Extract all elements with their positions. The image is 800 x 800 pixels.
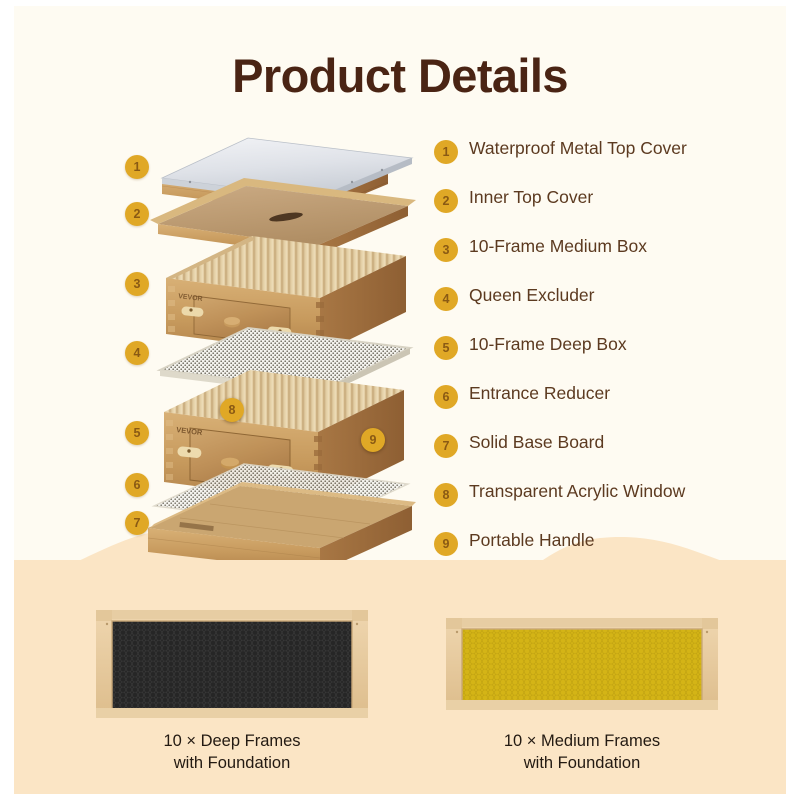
legend-badge-9: 9: [434, 532, 458, 556]
legend-label-4: Queen Excluder: [469, 285, 595, 306]
white-margin-bottom: [0, 794, 800, 800]
callout-badge-2[interactable]: 2: [125, 202, 149, 226]
legend-item-3[interactable]: 3 10-Frame Medium Box: [434, 236, 764, 285]
legend-badge-6: 6: [434, 385, 458, 409]
callout-badge-1[interactable]: 1: [125, 155, 149, 179]
legend-badge-1: 1: [434, 140, 458, 164]
callout-badge-9[interactable]: 9: [361, 428, 385, 452]
medium-frame-image: [446, 612, 718, 716]
legend-label-5: 10-Frame Deep Box: [469, 334, 627, 355]
legend-badge-3: 3: [434, 238, 458, 262]
deep-frame-caption-line2: with Foundation: [82, 752, 382, 774]
medium-frame-caption-line1: 10 × Medium Frames: [432, 730, 732, 752]
legend-item-4[interactable]: 4 Queen Excluder: [434, 285, 764, 334]
callout-badge-6[interactable]: 6: [125, 473, 149, 497]
legend-label-1: Waterproof Metal Top Cover: [469, 138, 687, 159]
legend-label-8: Transparent Acrylic Window: [469, 481, 685, 502]
product-details-infographic: VEVOR: [0, 0, 800, 800]
legend-label-3: 10-Frame Medium Box: [469, 236, 647, 257]
legend-list: 1 Waterproof Metal Top Cover 2 Inner Top…: [434, 138, 764, 579]
legend-badge-2: 2: [434, 189, 458, 213]
medium-frame-caption: 10 × Medium Frames with Foundation: [432, 730, 732, 775]
legend-label-6: Entrance Reducer: [469, 383, 610, 404]
legend-item-8[interactable]: 8 Transparent Acrylic Window: [434, 481, 764, 530]
medium-frame-caption-line2: with Foundation: [432, 752, 732, 774]
deep-frame-image: [96, 604, 368, 724]
callout-badge-4[interactable]: 4: [125, 341, 149, 365]
legend-label-2: Inner Top Cover: [469, 187, 593, 208]
white-margin-left: [0, 0, 14, 800]
callout-badge-3[interactable]: 3: [125, 272, 149, 296]
legend-item-2[interactable]: 2 Inner Top Cover: [434, 187, 764, 236]
legend-item-9[interactable]: 9 Portable Handle: [434, 530, 764, 579]
white-margin-right: [786, 0, 800, 800]
legend-label-9: Portable Handle: [469, 530, 595, 551]
legend-item-6[interactable]: 6 Entrance Reducer: [434, 383, 764, 432]
callout-badge-5[interactable]: 5: [125, 421, 149, 445]
legend-badge-8: 8: [434, 483, 458, 507]
hive-exploded-diagram: VEVOR: [120, 120, 430, 560]
callout-badge-7[interactable]: 7: [125, 511, 149, 535]
legend-item-1[interactable]: 1 Waterproof Metal Top Cover: [434, 138, 764, 187]
deep-frame-caption-line1: 10 × Deep Frames: [82, 730, 382, 752]
legend-label-7: Solid Base Board: [469, 432, 604, 453]
legend-item-7[interactable]: 7 Solid Base Board: [434, 432, 764, 481]
deep-frame-caption: 10 × Deep Frames with Foundation: [82, 730, 382, 775]
page-title: Product Details: [0, 48, 800, 103]
legend-badge-5: 5: [434, 336, 458, 360]
callout-badge-8[interactable]: 8: [220, 398, 244, 422]
legend-badge-7: 7: [434, 434, 458, 458]
legend-badge-4: 4: [434, 287, 458, 311]
white-margin-top: [0, 0, 800, 6]
legend-item-5[interactable]: 5 10-Frame Deep Box: [434, 334, 764, 383]
